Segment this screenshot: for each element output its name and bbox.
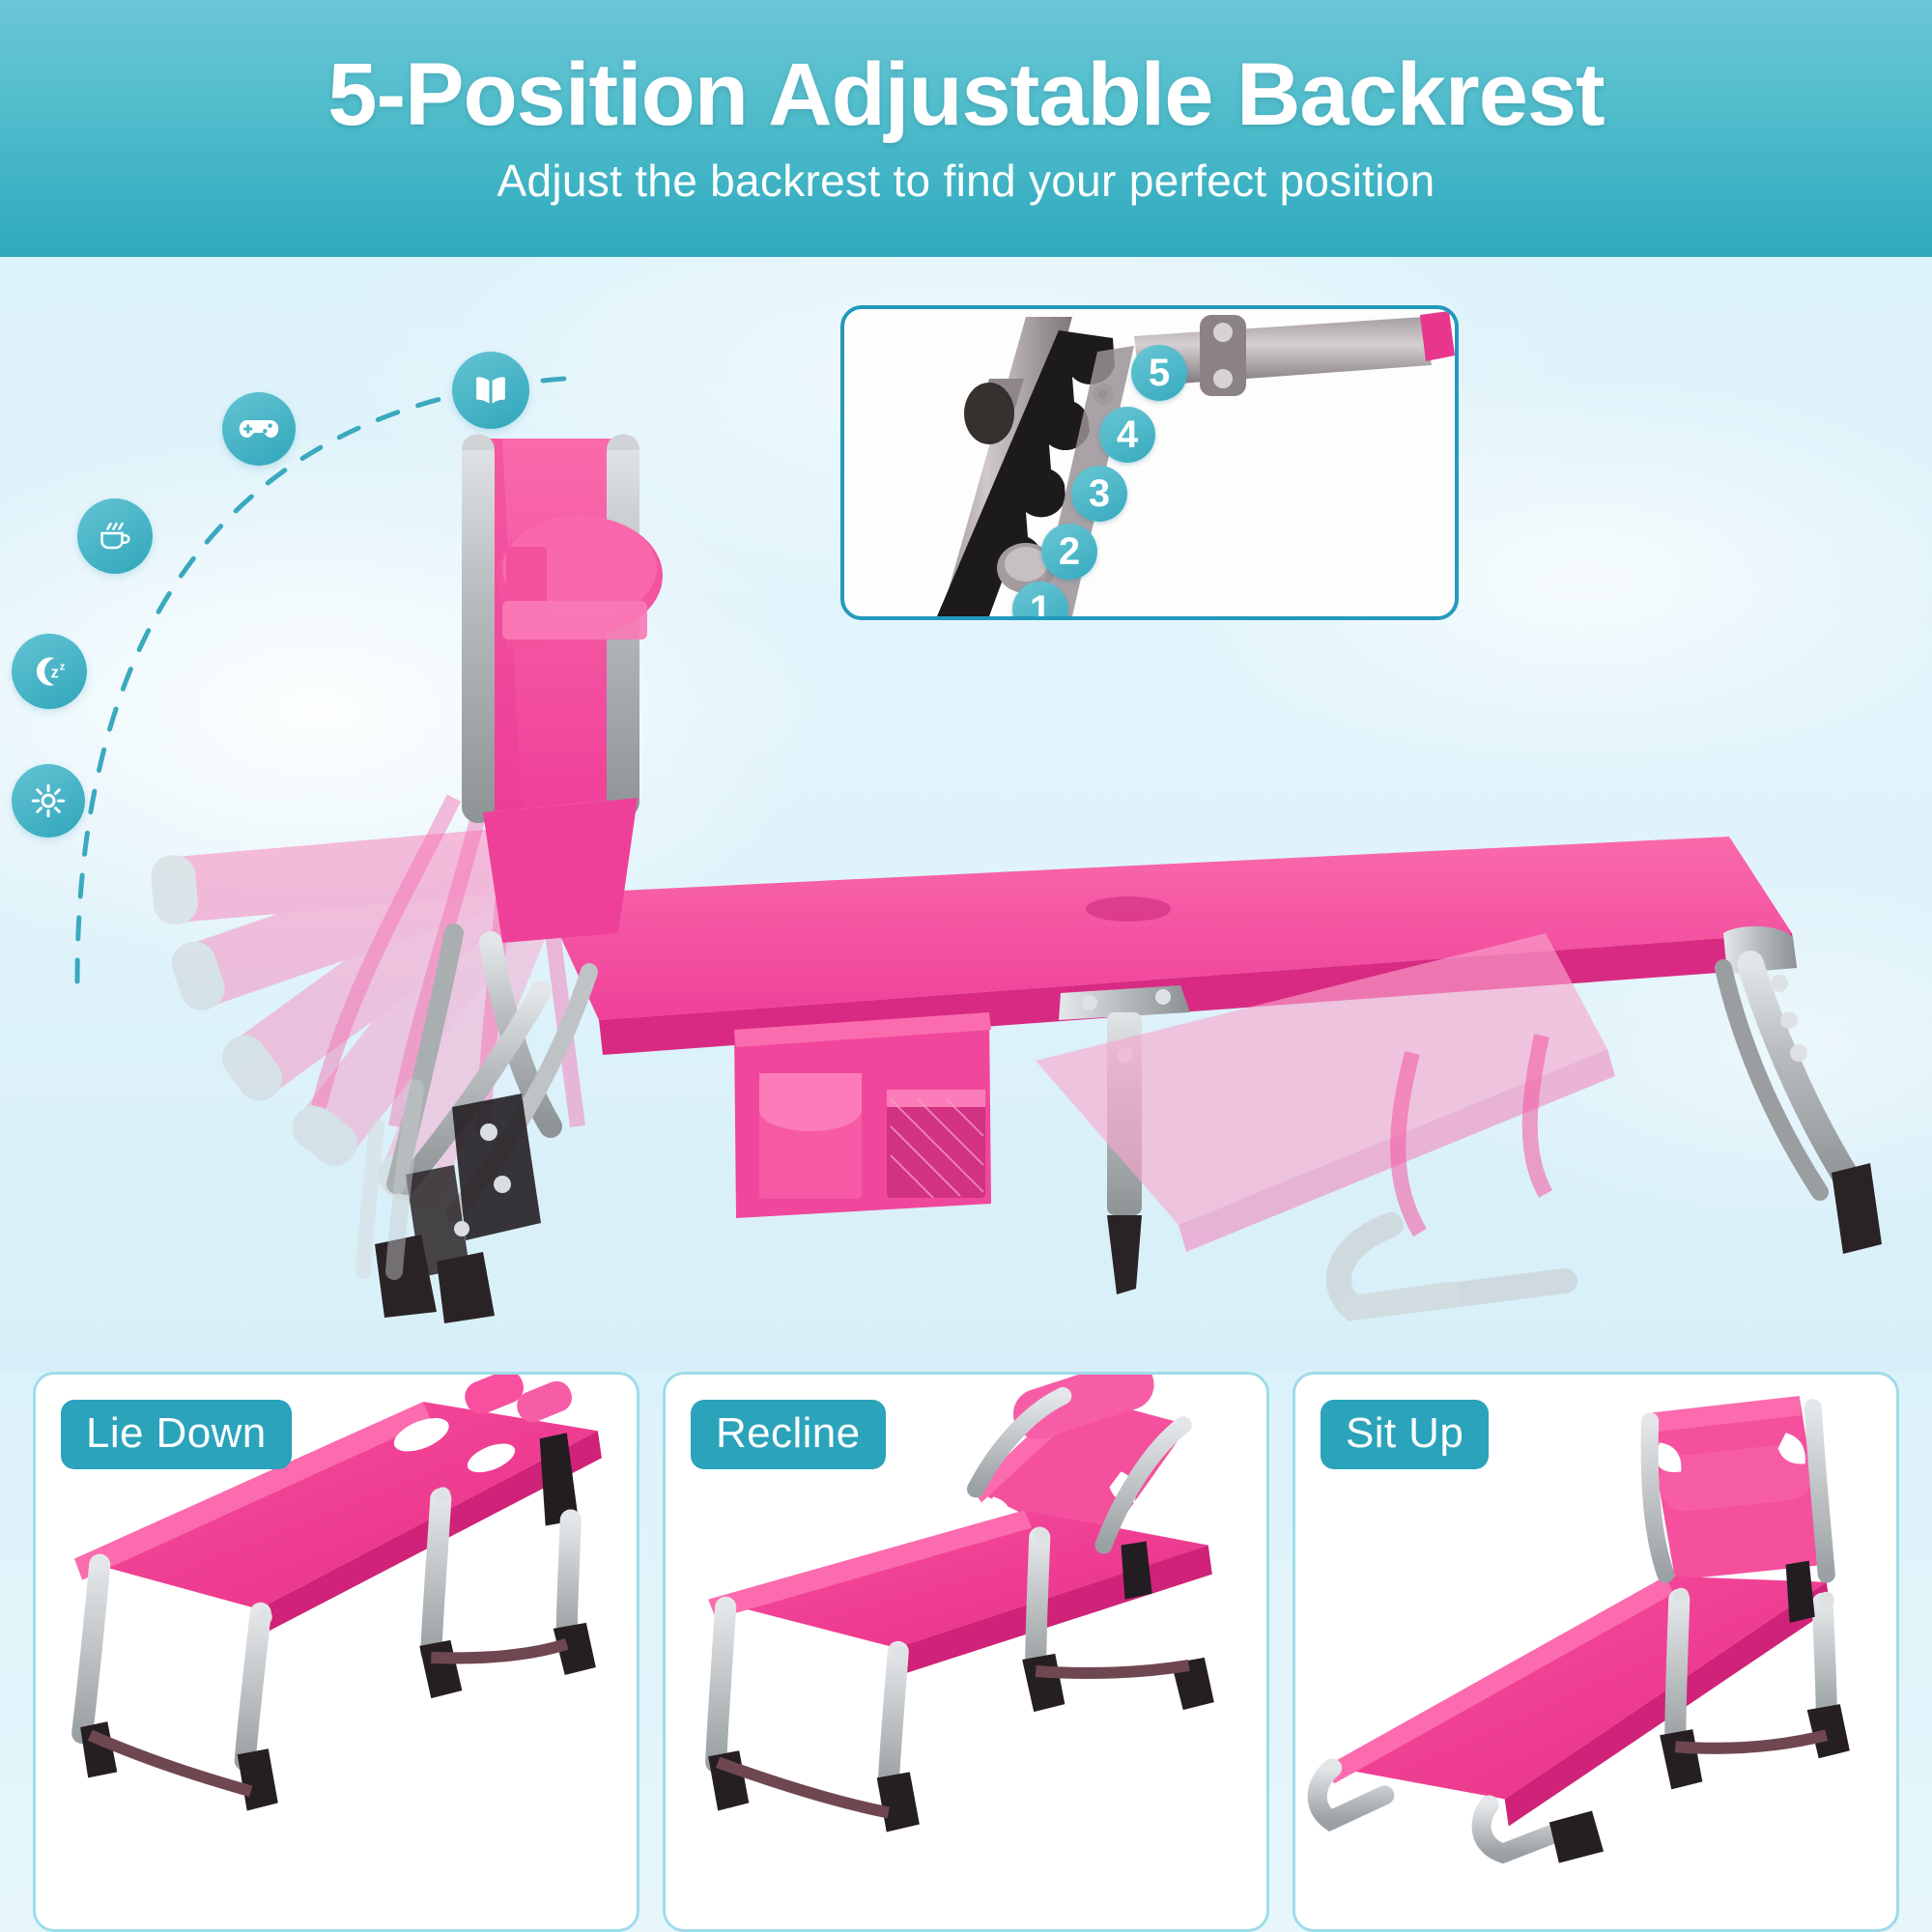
position-badge-5: 5 — [1131, 345, 1187, 401]
card-lie-down[interactable]: Lie Down — [33, 1372, 639, 1932]
position-badge-4: 4 — [1099, 407, 1155, 463]
position-badge-3: 3 — [1071, 466, 1127, 522]
position-card-row: Lie Down — [0, 1372, 1932, 1932]
side-storage-pocket — [734, 1012, 991, 1218]
card-label-sit-up: Sit Up — [1321, 1400, 1489, 1469]
backrest-notch-detail: 5 4 3 2 1 — [840, 305, 1459, 620]
card-sit-up[interactable]: Sit Up — [1293, 1372, 1899, 1932]
page-title: 5-Position Adjustable Backrest — [327, 50, 1604, 141]
right-leg — [1723, 926, 1882, 1254]
card-recline[interactable]: Recline — [663, 1372, 1269, 1932]
page-subtitle: Adjust the backrest to find your perfect… — [497, 155, 1435, 207]
card-label-lie-down: Lie Down — [61, 1400, 292, 1469]
header-banner: 5-Position Adjustable Backrest Adjust th… — [0, 0, 1932, 257]
main-product-stage: z z — [0, 257, 1932, 1372]
position-badge-2: 2 — [1041, 524, 1097, 580]
card-label-recline: Recline — [691, 1400, 886, 1469]
